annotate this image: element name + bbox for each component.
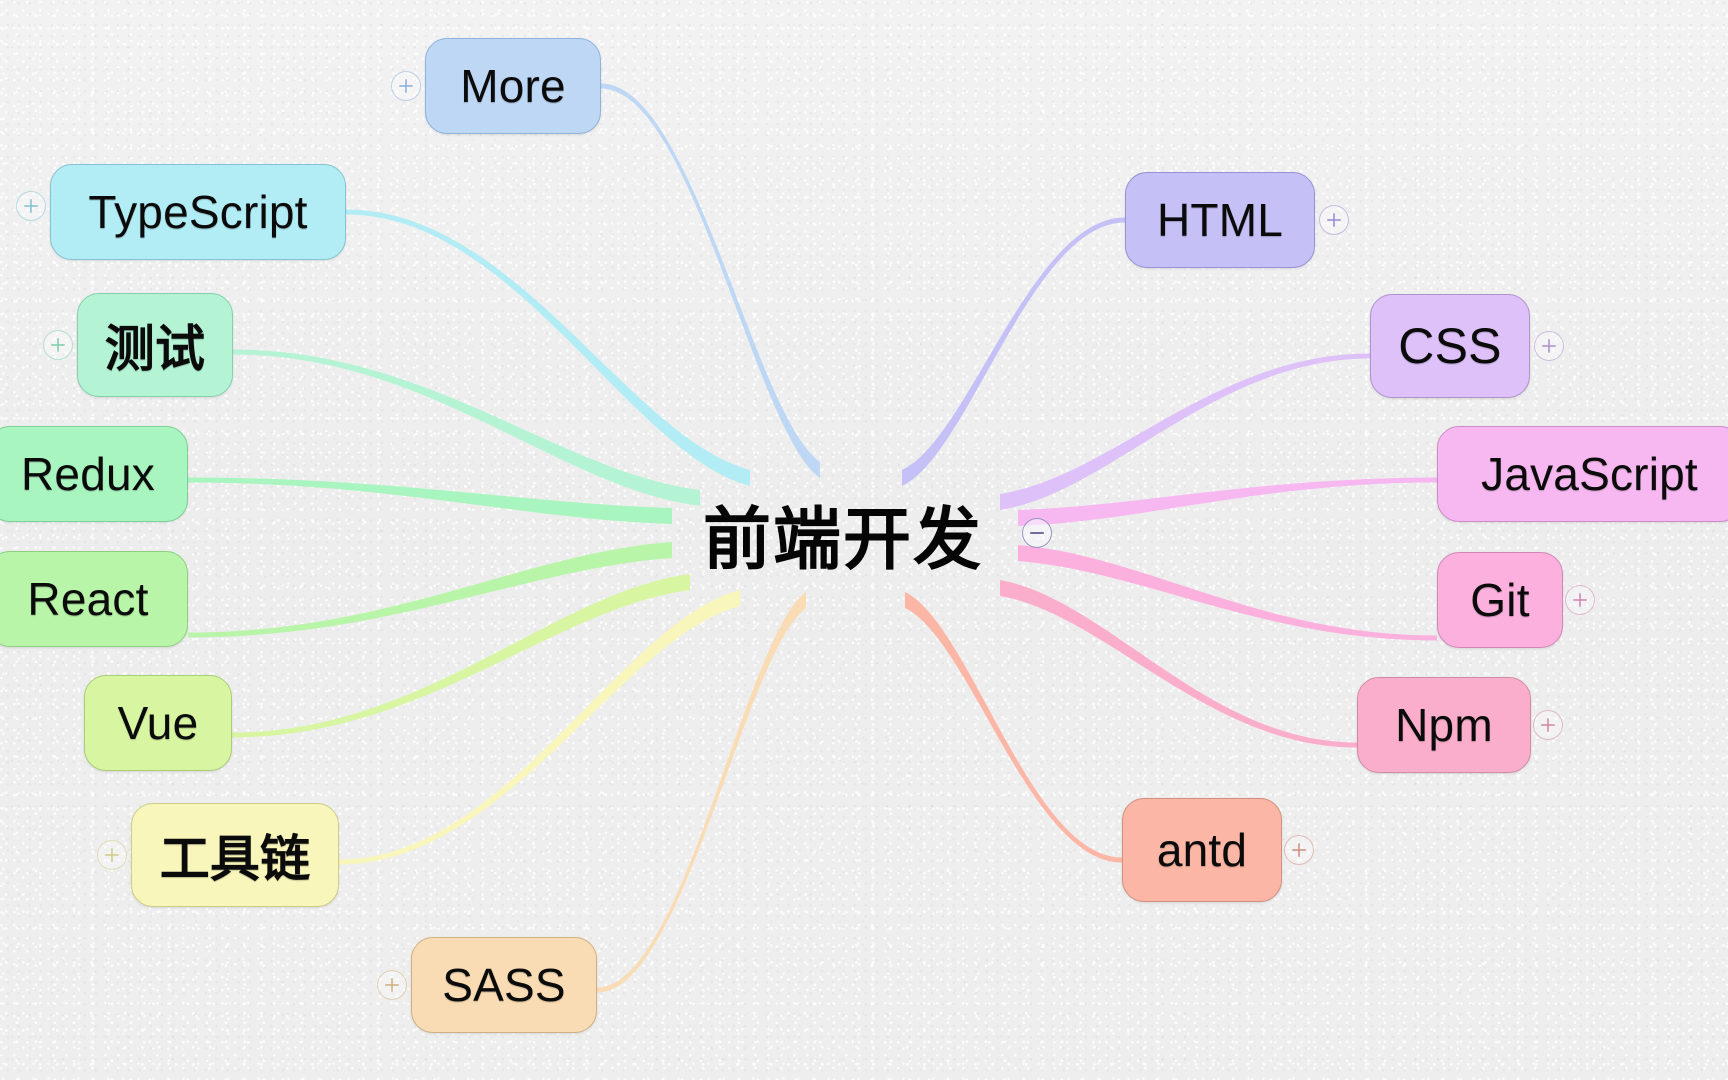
- mindmap-node-label: 工具链: [160, 819, 311, 891]
- mindmap-node-label: More: [460, 59, 566, 113]
- plus-vertical-bar: [30, 199, 32, 213]
- mindmap-node-label: TypeScript: [88, 185, 307, 239]
- branch-link-sass: [597, 592, 806, 993]
- mindmap-canvas[interactable]: MoreTypeScript测试ReduxReactVue工具链SASSHTML…: [0, 0, 1728, 1080]
- mindmap-node-react[interactable]: React: [0, 551, 188, 647]
- plus-vertical-bar: [111, 848, 113, 862]
- mindmap-node-vue[interactable]: Vue: [84, 675, 232, 771]
- expand-toggle-more-plus-circle-icon[interactable]: [391, 71, 421, 101]
- mindmap-node-label: CSS: [1398, 317, 1501, 375]
- mindmap-node-label: React: [27, 572, 148, 626]
- expand-toggle-git-plus-circle-icon[interactable]: [1565, 585, 1595, 615]
- mindmap-node-label: Git: [1470, 573, 1529, 627]
- mindmap-node-label: Vue: [118, 696, 199, 750]
- minus-bar: [1030, 532, 1044, 534]
- plus-vertical-bar: [1333, 213, 1335, 227]
- expand-toggle-typescript-plus-circle-icon[interactable]: [16, 191, 46, 221]
- mindmap-node-git[interactable]: Git: [1437, 552, 1563, 648]
- expand-toggle-npm-plus-circle-icon[interactable]: [1533, 710, 1563, 740]
- mindmap-node-toolchain[interactable]: 工具链: [131, 803, 339, 907]
- branch-link-typescript: [346, 210, 750, 487]
- plus-vertical-bar: [1548, 339, 1550, 353]
- branch-link-toolchain: [339, 590, 740, 865]
- mindmap-node-label: Redux: [21, 447, 155, 501]
- expand-toggle-html-plus-circle-icon[interactable]: [1319, 205, 1349, 235]
- center-collapse-toggle-icon[interactable]: [1022, 518, 1052, 548]
- mindmap-node-more[interactable]: More: [425, 38, 601, 134]
- expand-toggle-sass-plus-circle-icon[interactable]: [377, 970, 407, 1000]
- mindmap-node-redux[interactable]: Redux: [0, 426, 188, 522]
- plus-vertical-bar: [1298, 843, 1300, 857]
- mindmap-node-label: antd: [1157, 823, 1247, 877]
- mindmap-node-css[interactable]: CSS: [1370, 294, 1530, 398]
- plus-vertical-bar: [57, 338, 59, 352]
- plus-vertical-bar: [405, 79, 407, 93]
- mindmap-node-label: JavaScript: [1481, 447, 1698, 501]
- branch-link-html: [902, 218, 1125, 487]
- expand-toggle-test-plus-circle-icon[interactable]: [43, 330, 73, 360]
- mindmap-node-label: HTML: [1157, 193, 1283, 247]
- branch-link-more: [601, 84, 820, 479]
- plus-vertical-bar: [391, 978, 393, 992]
- mindmap-node-label: 测试: [105, 309, 205, 381]
- branch-link-antd: [905, 592, 1122, 863]
- mindmap-node-label: Npm: [1395, 698, 1493, 752]
- mindmap-node-npm[interactable]: Npm: [1357, 677, 1531, 773]
- mindmap-node-antd[interactable]: antd: [1122, 798, 1282, 902]
- expand-toggle-css-plus-circle-icon[interactable]: [1534, 331, 1564, 361]
- expand-toggle-antd-plus-circle-icon[interactable]: [1284, 835, 1314, 865]
- plus-vertical-bar: [1547, 718, 1549, 732]
- center-node-label: 前端开发: [703, 484, 983, 583]
- mindmap-node-sass[interactable]: SASS: [411, 937, 597, 1033]
- mindmap-node-html[interactable]: HTML: [1125, 172, 1315, 268]
- mindmap-node-test[interactable]: 测试: [77, 293, 233, 397]
- plus-vertical-bar: [1579, 593, 1581, 607]
- expand-toggle-toolchain-plus-circle-icon[interactable]: [97, 840, 127, 870]
- mindmap-node-label: SASS: [442, 958, 566, 1012]
- mindmap-node-typescript[interactable]: TypeScript: [50, 164, 346, 260]
- mindmap-node-javascript[interactable]: JavaScript: [1437, 426, 1728, 522]
- branch-link-npm: [1000, 580, 1357, 748]
- branch-link-vue: [232, 574, 690, 738]
